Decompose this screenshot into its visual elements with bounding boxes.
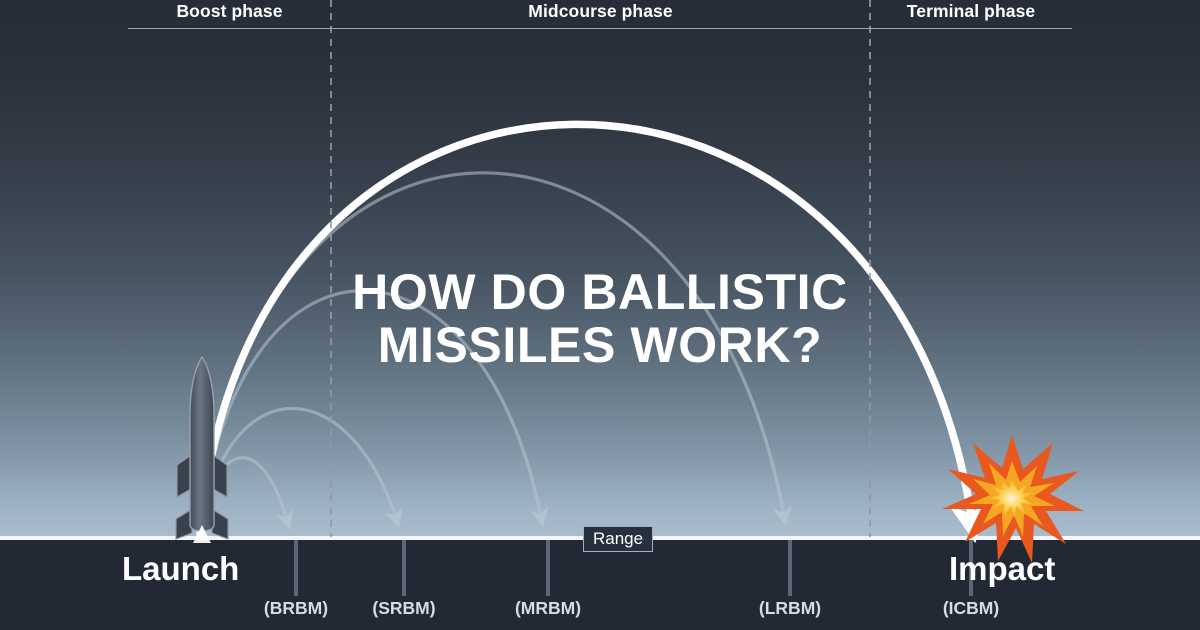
- missile-fin-right: [213, 455, 227, 497]
- infographic-canvas: Boost phase Midcourse phase Terminal pha…: [0, 0, 1200, 630]
- range-label: Range: [583, 526, 653, 552]
- title-line-2: MISSILES WORK?: [0, 319, 1200, 372]
- label-impact: Impact: [949, 550, 1055, 588]
- missile-icon: [176, 357, 228, 543]
- trajectory-srbm: [200, 408, 396, 537]
- page-title: HOW DO BALLISTIC MISSILES WORK?: [0, 266, 1200, 372]
- phase-label-midcourse: Midcourse phase: [331, 1, 870, 22]
- phase-rule: [128, 28, 1072, 29]
- class-label-icbm: (ICBM): [943, 598, 999, 619]
- label-launch: Launch: [122, 550, 239, 588]
- explosion-icon: [942, 435, 1084, 563]
- missile-fin-left: [177, 455, 191, 497]
- phase-bar: Boost phase Midcourse phase Terminal pha…: [0, 0, 1200, 32]
- class-label-srbm: (SRBM): [372, 598, 435, 619]
- phase-label-boost: Boost phase: [128, 1, 331, 22]
- class-label-mrbm: (MRBM): [515, 598, 581, 619]
- class-label-lrbm: (LRBM): [759, 598, 821, 619]
- missile-body: [190, 357, 214, 531]
- class-label-brbm: (BRBM): [264, 598, 328, 619]
- title-line-1: HOW DO BALLISTIC: [0, 266, 1200, 319]
- phase-label-terminal: Terminal phase: [870, 1, 1072, 22]
